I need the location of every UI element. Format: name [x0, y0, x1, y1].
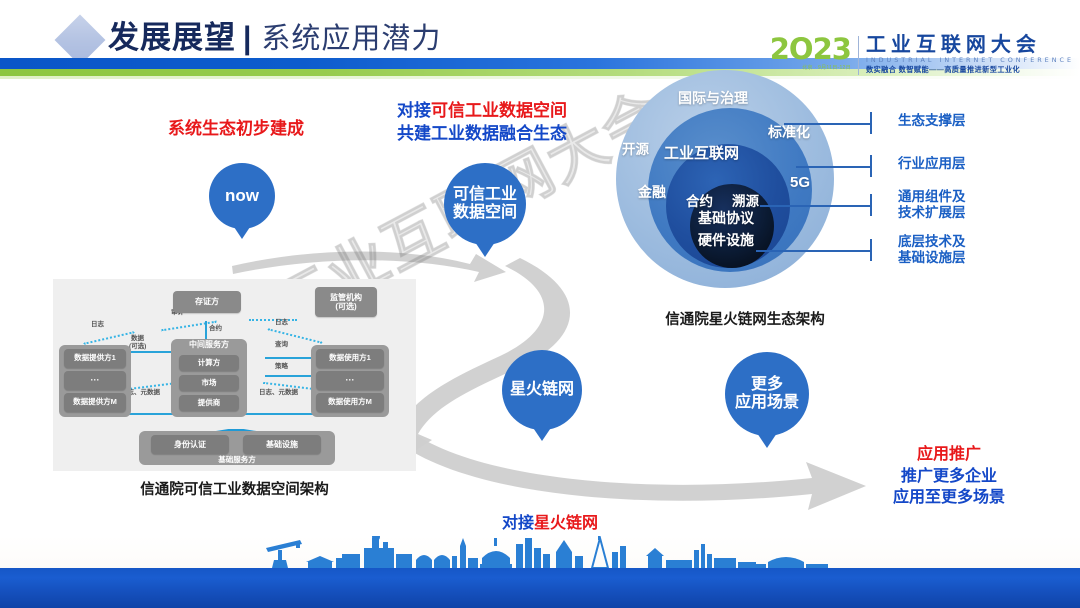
- ring-token-iiot: 工业互联网: [664, 142, 739, 163]
- pin-more-scenarios[interactable]: 更多 应用场景: [725, 352, 809, 436]
- pin-space-line2: 数据空间: [453, 204, 517, 222]
- layer-label-base-technology-line1: 底层技术及: [898, 234, 966, 250]
- arch-node-base-service: 基础服务方: [139, 456, 335, 464]
- edge-line: [249, 319, 297, 321]
- bottom-banner: [0, 536, 1080, 608]
- callout-system-ecology: 系统生态初步建成: [168, 118, 304, 141]
- architecture-caption: 信通院可信工业数据空间架构: [53, 478, 416, 499]
- pin-now-label: now: [209, 163, 275, 229]
- ring-token-base-protocol: 基础协议: [698, 208, 754, 228]
- callout-dock-highlight: 可信工业数据空间: [431, 101, 567, 120]
- edge-label-log-right: 日志: [275, 319, 288, 326]
- arch-node-provider-dots: ···: [64, 371, 126, 390]
- arch-node-infra: 基础设施: [243, 435, 321, 454]
- leader-line-1: [784, 123, 870, 125]
- arch-node-broker-sub-provider: 提供商: [179, 395, 239, 411]
- edge-label-policy: 策略: [275, 363, 288, 370]
- arch-node-custodian: 存证方: [173, 291, 241, 313]
- ecosystem-circle-caption: 信通院星火链网生态架构: [600, 308, 890, 329]
- arch-node-identity: 身份认证: [151, 435, 229, 454]
- pin-space-line1: 可信工业: [453, 186, 517, 204]
- leader-line-4: [756, 250, 870, 252]
- callout-xinghuo-prefix: 对接: [502, 515, 534, 532]
- callout-dock-line2: 共建工业数据融合生态: [397, 123, 567, 146]
- edge-line: [83, 331, 134, 345]
- ring-token-trace: 溯源: [732, 190, 759, 210]
- ecosystem-circle-diagram: 国际与治理 标准化 开源 工业互联网 金融 5G 合约 溯源 基础协议 硬件设施: [608, 66, 878, 296]
- ring-token-contract: 合约: [686, 190, 713, 210]
- pin-trusted-data-space[interactable]: 可信工业 数据空间: [444, 163, 526, 245]
- layer-label-common-components-line2: 技术扩展层: [898, 205, 966, 221]
- pin-more-line2: 应用场景: [735, 394, 799, 412]
- arch-node-consumer-dots: ···: [316, 371, 384, 390]
- ring-token-opensource: 开源: [622, 138, 649, 158]
- arch-node-regulator-line2: (可选): [330, 302, 362, 311]
- slide-root: 发展展望|系统应用潜力 2O23 北京 · 9月11日-12日 工业互联网大会 …: [0, 0, 1080, 608]
- callout-promotion-line1: 应用推广: [893, 444, 1005, 466]
- arch-node-provider-last: 数据提供方M: [64, 393, 126, 412]
- leader-line-2: [796, 166, 870, 168]
- leader-tick-4: [870, 239, 872, 261]
- architecture-figure: 日志 审计 日志 合约 数据 (可选) 查询 策略 日志、元数据 日志、元数据 …: [53, 279, 416, 471]
- callout-dock-data-space: 对接可信工业数据空间 共建工业数据融合生态: [397, 100, 567, 146]
- leader-tick-2: [870, 155, 872, 177]
- edge-label-meta-right: 日志、元数据: [259, 389, 298, 396]
- leader-line-3: [760, 205, 870, 207]
- arch-node-broker-sub-compute: 计算方: [179, 355, 239, 371]
- ring-token-standardization: 标准化: [768, 122, 810, 142]
- layer-label-ecosystem-support: 生态支撑层: [898, 113, 966, 129]
- banner-wave: [0, 568, 1080, 608]
- pin-now[interactable]: now: [209, 163, 275, 229]
- ring-token-finance: 金融: [638, 182, 666, 202]
- layer-label-common-components: 通用组件及 技术扩展层: [898, 189, 966, 221]
- ring-token-hardware: 硬件设施: [698, 230, 754, 250]
- callout-promotion-line3: 应用至更多场景: [893, 487, 1005, 509]
- edge-line: [265, 357, 313, 359]
- city-skyline-icon: [0, 536, 1080, 570]
- callout-dock-prefix: 对接: [397, 101, 431, 120]
- edge-label-data-meta-1: 数据: [131, 335, 144, 342]
- arch-node-regulator: 监管机构 (可选): [315, 287, 377, 317]
- layer-label-base-technology: 底层技术及 基础设施层: [898, 234, 966, 266]
- pin-xinghuo-label: 星火链网: [502, 350, 582, 430]
- arch-node-broker-sub-market: 市场: [179, 375, 239, 391]
- arch-node-consumer-last: 数据使用方M: [316, 393, 384, 412]
- layer-label-base-technology-line2: 基础设施层: [898, 250, 966, 266]
- edge-label-data-meta-2: (可选): [129, 343, 146, 350]
- callout-xinghuo-highlight: 星火链网: [534, 515, 598, 532]
- callout-promotion-line2: 推广更多企业: [893, 466, 1005, 488]
- arch-node-consumer-first: 数据使用方1: [316, 349, 384, 368]
- pin-more-line1: 更多: [735, 376, 799, 394]
- edge-label-contract: 合约: [209, 325, 222, 332]
- layer-label-common-components-line1: 通用组件及: [898, 189, 966, 205]
- layer-label-industry-application: 行业应用层: [898, 156, 966, 172]
- arch-node-broker-title: 中间服务方: [179, 341, 239, 350]
- leader-tick-1: [870, 112, 872, 134]
- edge-line: [265, 375, 313, 377]
- pin-xinghuo-chain[interactable]: 星火链网: [502, 350, 582, 430]
- pin-more-scenarios-label: 更多 应用场景: [725, 352, 809, 436]
- edge-label-log-left: 日志: [91, 321, 104, 328]
- arch-node-provider-first: 数据提供方1: [64, 349, 126, 368]
- ring-token-5g: 5G: [790, 174, 810, 191]
- ring-token-governance: 国际与治理: [678, 88, 748, 108]
- callout-promotion: 应用推广 推广更多企业 应用至更多场景: [893, 444, 1005, 509]
- arch-node-regulator-line1: 监管机构: [330, 293, 362, 302]
- leader-tick-3: [870, 194, 872, 216]
- edge-label-query: 查询: [275, 341, 288, 348]
- pin-trusted-data-space-label: 可信工业 数据空间: [444, 163, 526, 245]
